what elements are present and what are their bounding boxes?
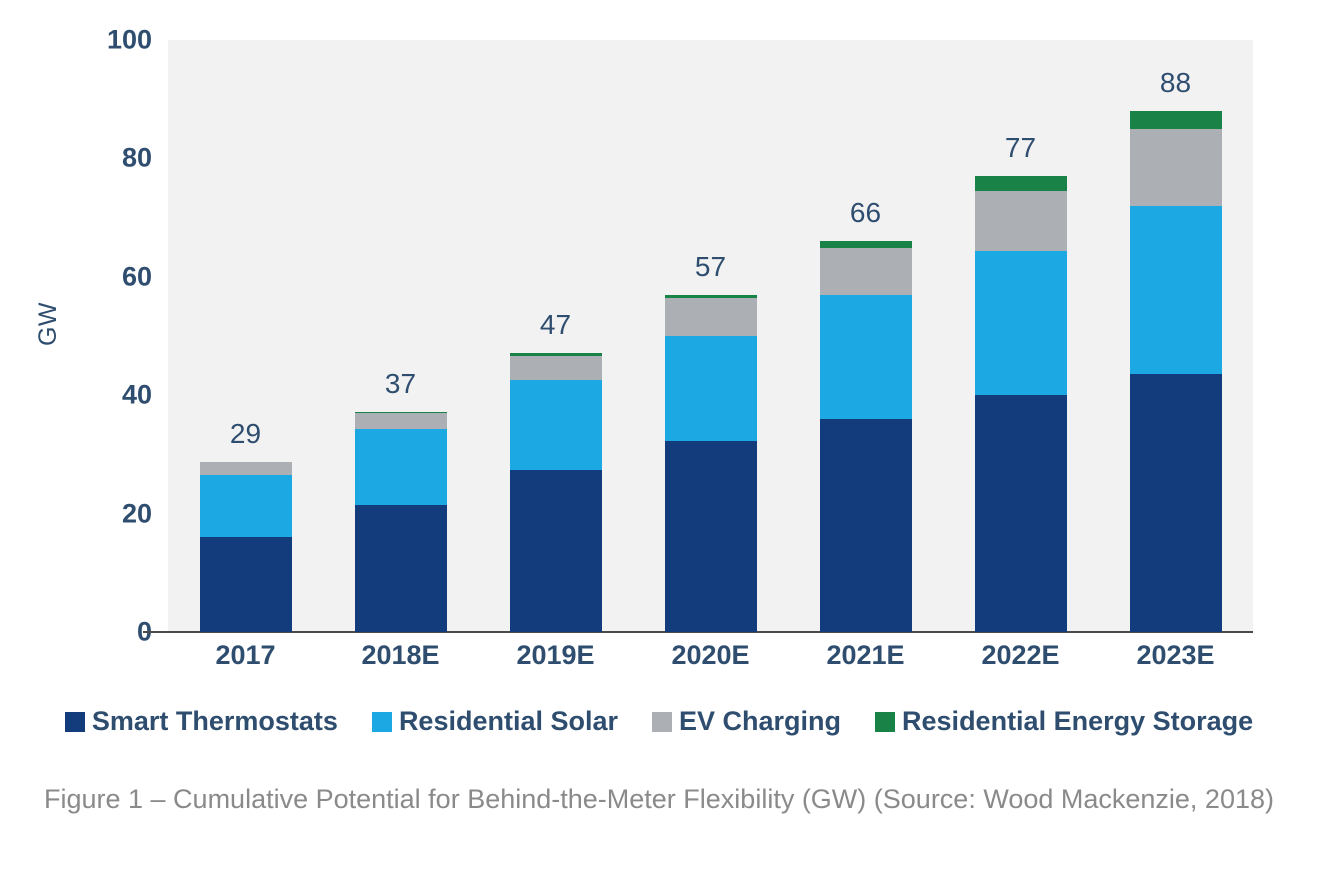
legend-item[interactable]: Residential Energy Storage: [875, 706, 1253, 737]
x-axis-label-2017: 2017: [168, 640, 323, 671]
legend-swatch-icon: [875, 712, 895, 732]
bar-total-label: 57: [637, 251, 784, 283]
bar-segment[interactable]: [355, 413, 447, 429]
bar-total-label: 47: [482, 309, 629, 341]
bar-segment[interactable]: [200, 537, 292, 632]
bar-segment[interactable]: [975, 251, 1067, 395]
bar-group[interactable]: 37: [355, 40, 447, 632]
bar-group[interactable]: 88: [1130, 40, 1222, 632]
x-axis-label-2022E: 2022E: [943, 640, 1098, 671]
x-axis-label-2018E: 2018E: [323, 640, 478, 671]
x-axis-label-2021E: 2021E: [788, 640, 943, 671]
y-axis-tick-80: 80: [22, 143, 152, 174]
bar-segment[interactable]: [510, 356, 602, 381]
bar-segment[interactable]: [975, 191, 1067, 251]
bar-group[interactable]: 47: [510, 40, 602, 632]
bar-stack: [510, 353, 602, 632]
legend-swatch-icon: [652, 712, 672, 732]
legend-label: Residential Energy Storage: [902, 706, 1253, 737]
chart-legend: Smart ThermostatsResidential SolarEV Cha…: [0, 706, 1318, 737]
legend-item[interactable]: Residential Solar: [372, 706, 618, 737]
bar-total-label: 88: [1102, 67, 1249, 99]
bar-total-label: 37: [327, 368, 474, 400]
bar-stack: [665, 295, 757, 632]
bar-segment[interactable]: [510, 380, 602, 470]
bar-stack: [200, 462, 292, 632]
bar-stack: [355, 412, 447, 632]
x-axis-label-2019E: 2019E: [478, 640, 633, 671]
bar-segment[interactable]: [820, 241, 912, 248]
bar-group[interactable]: 29: [200, 40, 292, 632]
bar-segment[interactable]: [820, 419, 912, 632]
legend-label: EV Charging: [679, 706, 841, 737]
x-axis-label-2020E: 2020E: [633, 640, 788, 671]
bar-segment[interactable]: [355, 429, 447, 505]
bar-stack: [820, 241, 912, 632]
legend-label: Smart Thermostats: [92, 706, 338, 737]
bar-total-label: 66: [792, 197, 939, 229]
legend-swatch-icon: [65, 712, 85, 732]
bar-group[interactable]: 77: [975, 40, 1067, 632]
bar-segment[interactable]: [975, 395, 1067, 632]
y-axis-tick-labels: 020406080100: [0, 0, 152, 700]
legend-item[interactable]: EV Charging: [652, 706, 841, 737]
legend-item[interactable]: Smart Thermostats: [65, 706, 338, 737]
y-axis-tick-20: 20: [22, 498, 152, 529]
legend-label: Residential Solar: [399, 706, 618, 737]
stacked-bar-chart: GW 020406080100 29374757667788 20172018E…: [0, 0, 1318, 700]
bar-segment[interactable]: [200, 462, 292, 475]
x-axis-tick-labels: 20172018E2019E2020E2021E2022E2023E: [168, 640, 1253, 680]
bar-segment[interactable]: [355, 505, 447, 632]
bar-segment[interactable]: [1130, 206, 1222, 375]
bar-group[interactable]: 66: [820, 40, 912, 632]
bar-segment[interactable]: [1130, 374, 1222, 632]
bar-group[interactable]: 57: [665, 40, 757, 632]
bar-segment[interactable]: [1130, 129, 1222, 206]
bar-segment[interactable]: [820, 295, 912, 419]
bar-stack: [1130, 111, 1222, 632]
bar-segment[interactable]: [665, 441, 757, 632]
bar-segment[interactable]: [665, 336, 757, 441]
bars-container: 29374757667788: [168, 40, 1253, 632]
bar-total-label: 29: [172, 418, 319, 450]
legend-swatch-icon: [372, 712, 392, 732]
y-axis-tick-40: 40: [22, 380, 152, 411]
y-axis-tick-100: 100: [22, 25, 152, 56]
bar-segment[interactable]: [510, 470, 602, 632]
bar-segment[interactable]: [820, 248, 912, 294]
bar-segment[interactable]: [665, 298, 757, 336]
x-axis-label-2023E: 2023E: [1098, 640, 1253, 671]
bar-segment[interactable]: [975, 176, 1067, 191]
bar-segment[interactable]: [200, 475, 292, 537]
bar-segment[interactable]: [1130, 111, 1222, 129]
y-axis-tick-0: 0: [22, 617, 152, 648]
bar-total-label: 77: [947, 132, 1094, 164]
figure-caption: Figure 1 – Cumulative Potential for Behi…: [8, 778, 1310, 821]
bar-stack: [975, 176, 1067, 632]
y-axis-tick-60: 60: [22, 261, 152, 292]
figure-container: GW 020406080100 29374757667788 20172018E…: [0, 0, 1318, 890]
